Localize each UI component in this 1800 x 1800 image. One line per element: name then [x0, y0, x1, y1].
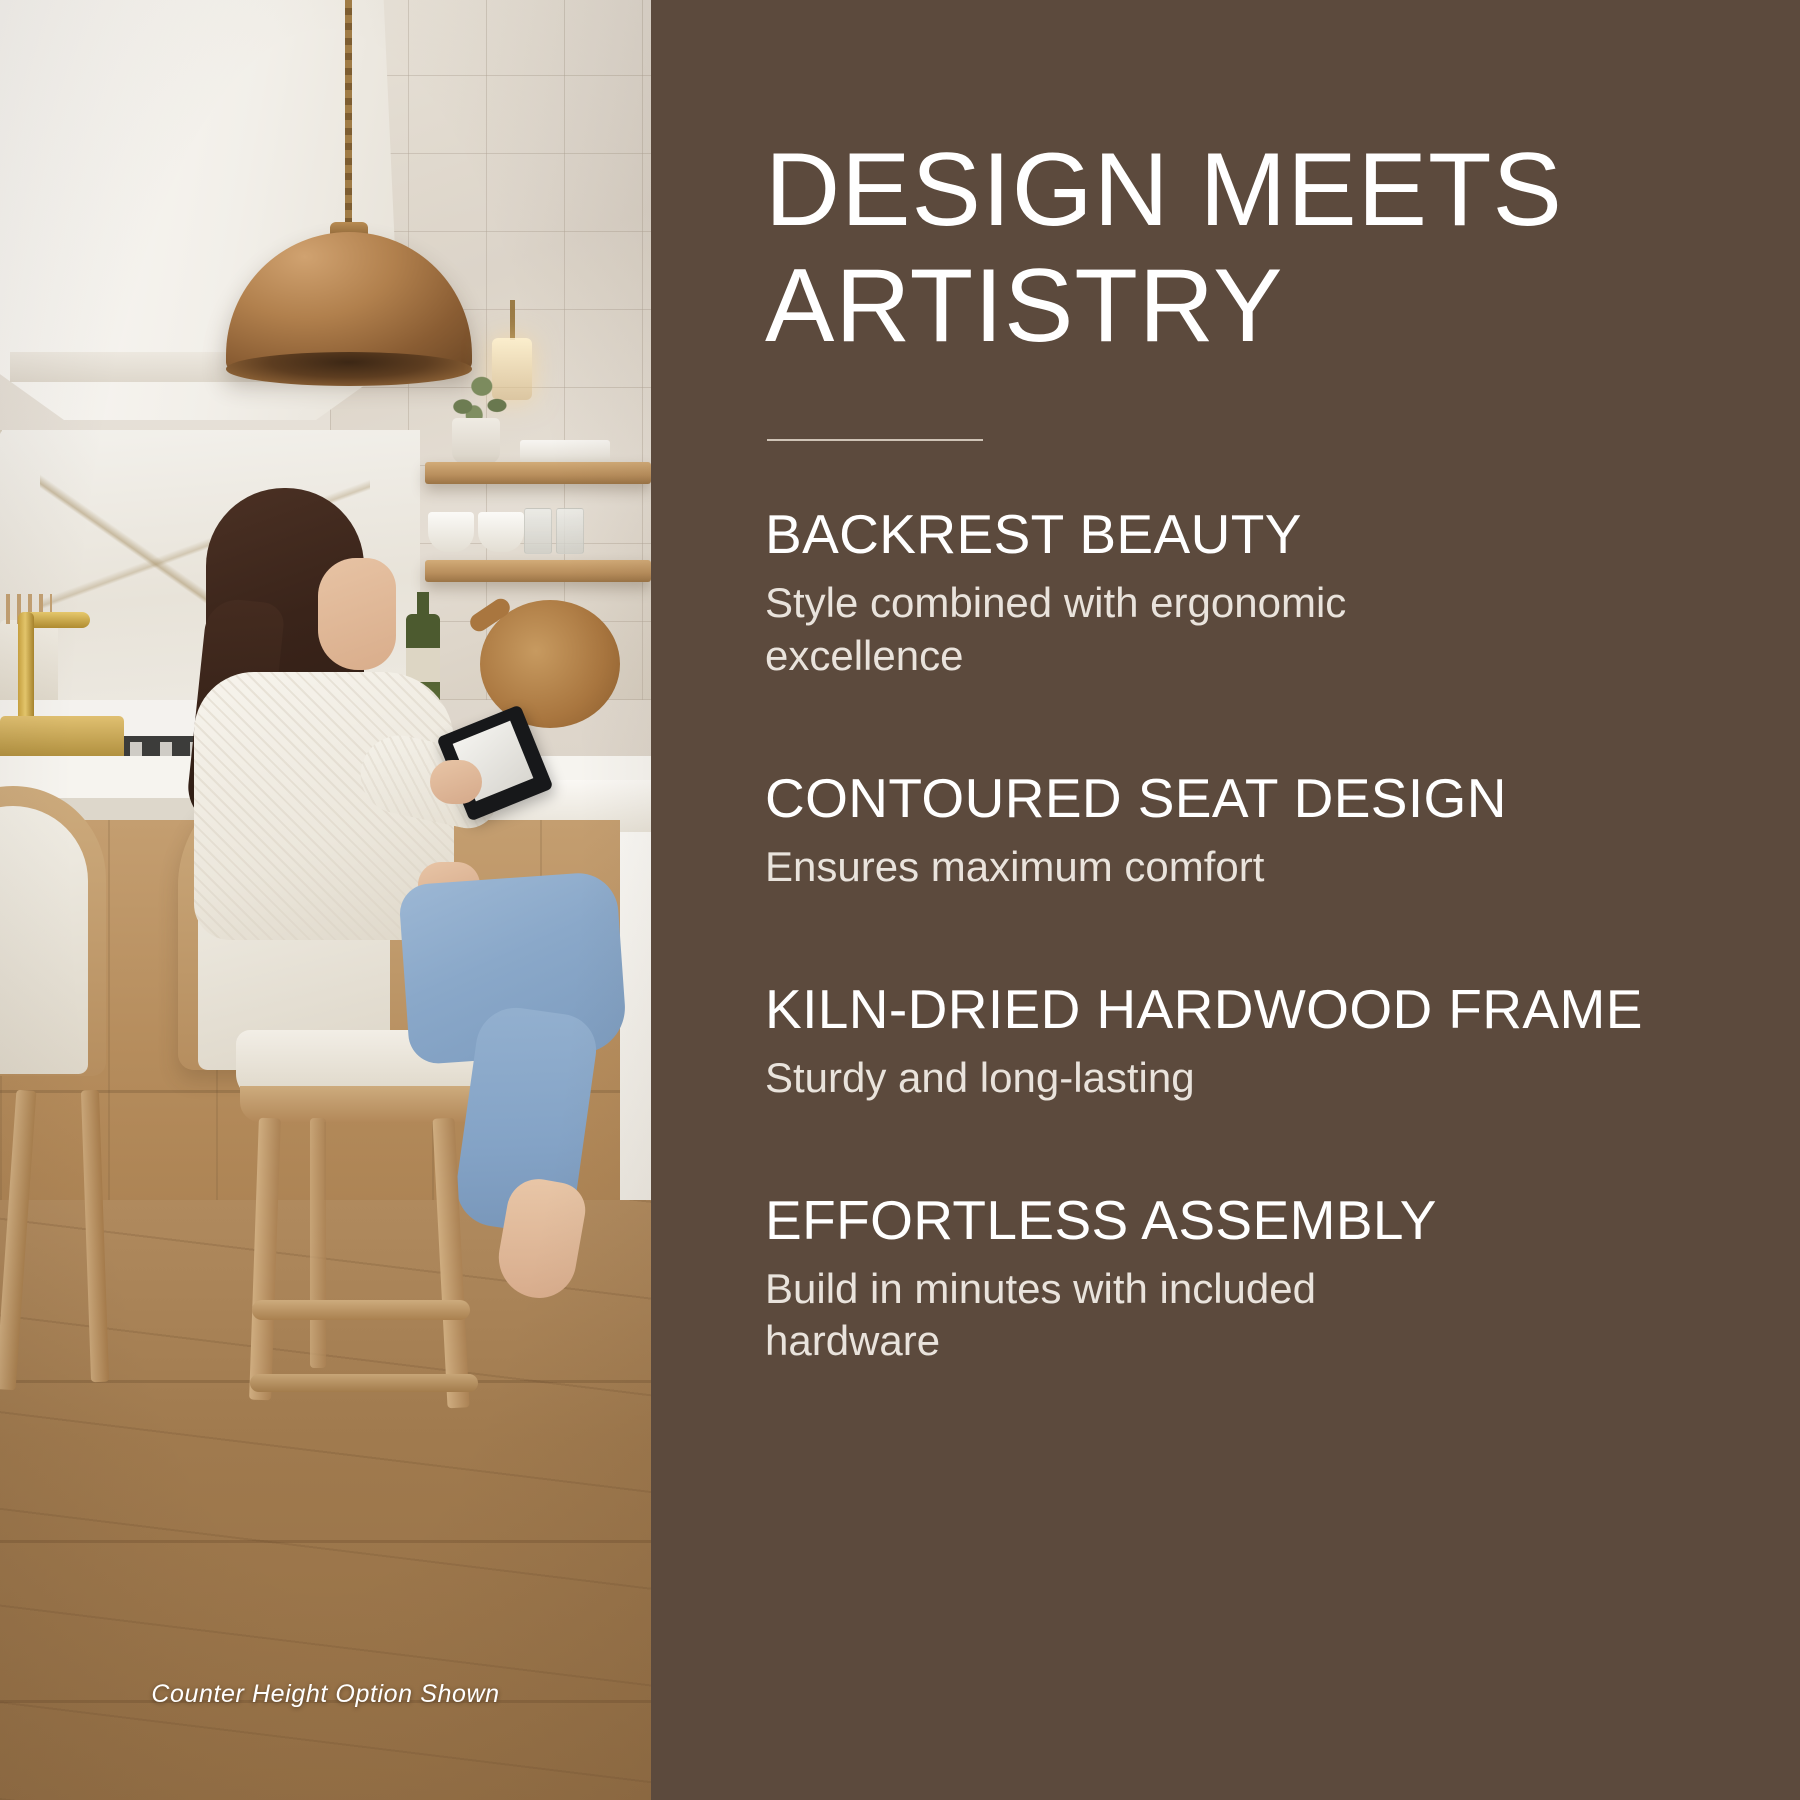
feature-description: Style combined with ergonomic excellence — [765, 577, 1425, 683]
feature-list: BACKREST BEAUTY Style combined with ergo… — [765, 501, 1728, 1368]
woman-hand — [430, 760, 482, 804]
feature-title: BACKREST BEAUTY — [765, 501, 1728, 567]
pendant-chain — [345, 0, 352, 240]
drinking-glass — [524, 508, 552, 554]
gold-faucet — [18, 612, 34, 732]
title-divider — [767, 439, 983, 441]
feature-description: Ensures maximum comfort — [765, 841, 1425, 894]
feature-item-seat: CONTOURED SEAT DESIGN Ensures maximum co… — [765, 765, 1728, 894]
stool-leg — [310, 1118, 326, 1368]
pendant-interior — [226, 352, 472, 386]
stool-footrest — [250, 1374, 478, 1392]
stool-stretcher — [252, 1300, 470, 1320]
second-stool-upholstery — [0, 806, 88, 1074]
bowl — [478, 512, 524, 552]
feature-item-frame: KILN-DRIED HARDWOOD FRAME Sturdy and lon… — [765, 976, 1728, 1105]
feature-description: Sturdy and long-lasting — [765, 1052, 1425, 1105]
feature-title: CONTOURED SEAT DESIGN — [765, 765, 1728, 831]
feature-copy-panel: DESIGN MEETS ARTISTRY BACKREST BEAUTY St… — [651, 0, 1800, 1800]
woman-face — [318, 558, 396, 670]
photo-caption: Counter Height Option Shown — [0, 1680, 651, 1709]
feature-item-backrest: BACKREST BEAUTY Style combined with ergo… — [765, 501, 1728, 683]
wall-sconce-arm — [510, 300, 515, 340]
floor-plank-seam — [0, 1540, 651, 1543]
cutting-board — [480, 600, 620, 728]
drinking-glass — [556, 508, 584, 554]
floating-shelf-lower — [425, 560, 651, 582]
bowl — [428, 512, 474, 552]
potted-plant-foliage — [440, 366, 516, 424]
floating-shelf-upper — [425, 462, 651, 484]
stacked-plates — [520, 440, 610, 462]
feature-title: EFFORTLESS ASSEMBLY — [765, 1187, 1728, 1253]
feature-title: KILN-DRIED HARDWOOD FRAME — [765, 976, 1728, 1042]
plant-pot — [452, 418, 500, 464]
lifestyle-photo: Counter Height Option Shown — [0, 0, 651, 1800]
feature-description: Build in minutes with included hardware — [765, 1263, 1425, 1369]
feature-item-assembly: EFFORTLESS ASSEMBLY Build in minutes wit… — [765, 1187, 1728, 1369]
page-title: DESIGN MEETS ARTISTRY — [765, 132, 1728, 365]
marketing-image-canvas: Counter Height Option Shown DESIGN MEETS… — [0, 0, 1800, 1800]
stool-seat-apron — [240, 1086, 494, 1122]
